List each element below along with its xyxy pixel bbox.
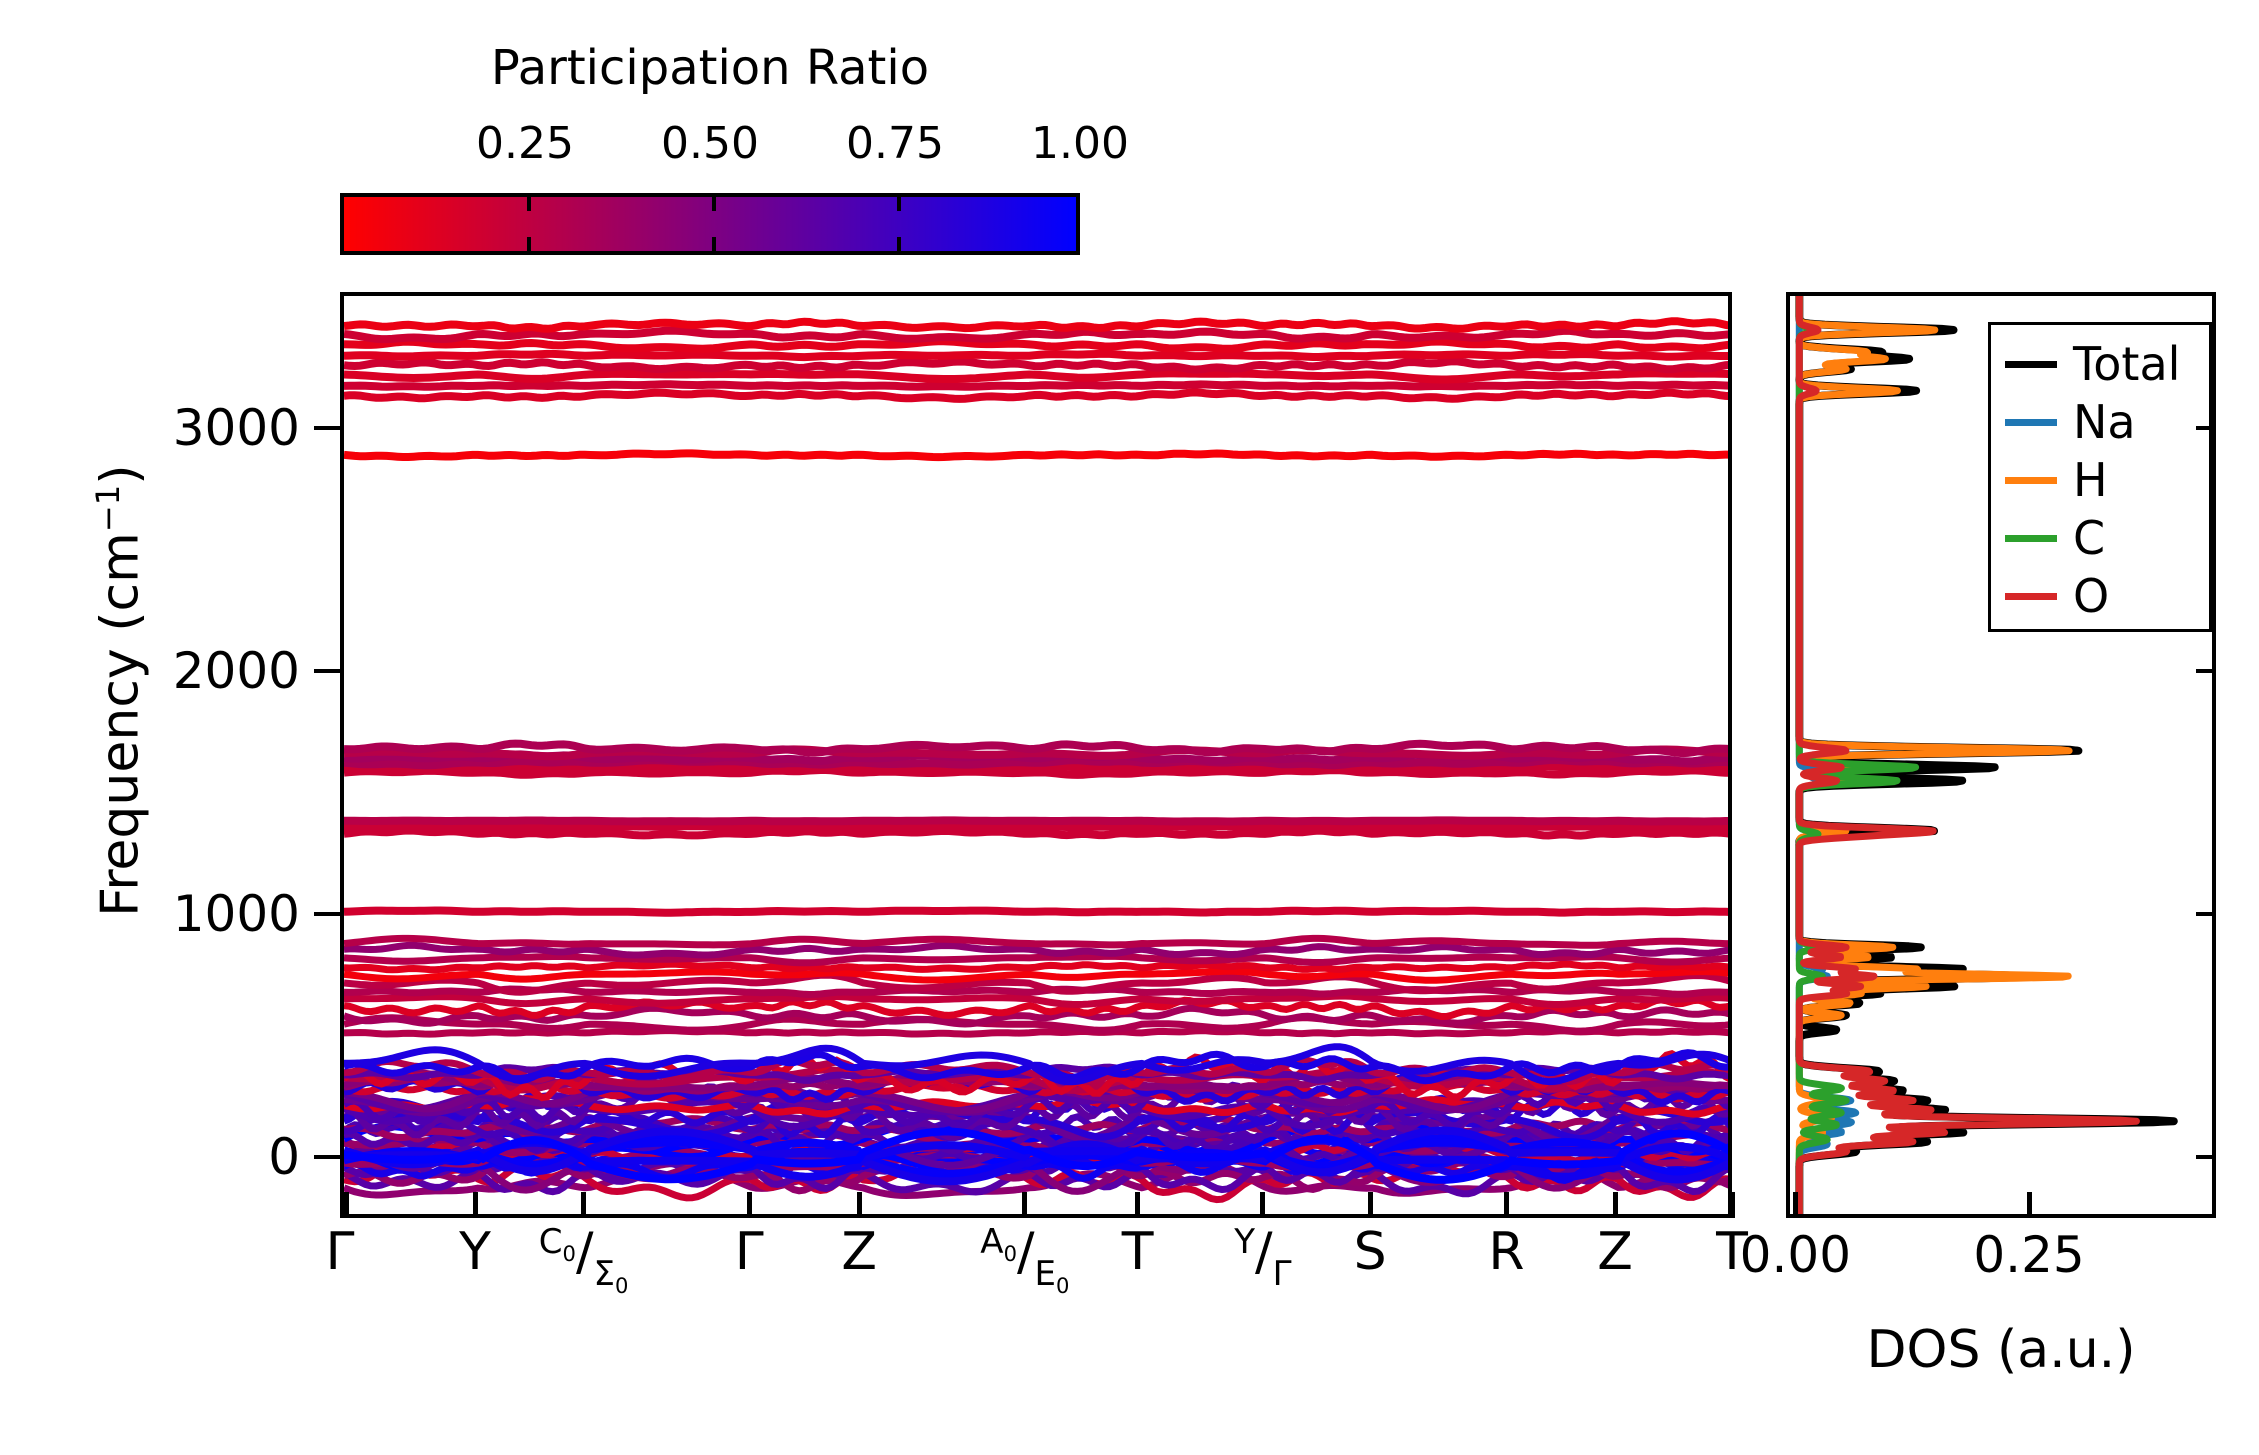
legend-label: Total bbox=[2073, 341, 2180, 387]
k-point-label-10: Z bbox=[1597, 1226, 1633, 1278]
legend-label: O bbox=[2073, 573, 2109, 619]
k-point-label-4: Z bbox=[841, 1226, 877, 1278]
colorbar-tick-label: 0.50 bbox=[661, 118, 759, 169]
colorbar-tick-mark bbox=[527, 197, 531, 211]
k-point-tick bbox=[1368, 1192, 1373, 1218]
k-point-tick bbox=[1022, 1192, 1027, 1218]
colorbar-tick-mark bbox=[527, 237, 531, 251]
band-curve bbox=[344, 938, 1732, 945]
band-curve bbox=[344, 373, 1732, 379]
legend-line-swatch bbox=[2005, 535, 2057, 542]
legend-label: Na bbox=[2073, 399, 2136, 445]
legend-line-swatch bbox=[2005, 361, 2057, 368]
k-point-tick bbox=[473, 1192, 478, 1218]
band-curve bbox=[344, 971, 1732, 980]
k-point-label-5: A0/E0 bbox=[980, 1226, 1069, 1280]
k-point-tick bbox=[344, 1192, 349, 1218]
band-curve bbox=[344, 384, 1732, 386]
band-curve bbox=[344, 831, 1732, 836]
colorbar-tick-label: 1.00 bbox=[1031, 118, 1129, 169]
dos-x-tick bbox=[1793, 1192, 1798, 1218]
colorbar bbox=[340, 193, 1080, 255]
k-point-label-9: R bbox=[1488, 1226, 1524, 1278]
k-point-tick bbox=[1613, 1192, 1618, 1218]
k-point-tick bbox=[1504, 1192, 1509, 1218]
colorbar-tick-mark bbox=[897, 197, 901, 211]
k-point-label-2: C0/Σ0 bbox=[539, 1226, 629, 1280]
band-curve bbox=[344, 956, 1732, 962]
dos-x-axis-label: DOS (a.u.) bbox=[1786, 1320, 2216, 1380]
band-curve bbox=[344, 354, 1732, 357]
colorbar-tick-label: 0.25 bbox=[476, 118, 574, 169]
k-point-tick bbox=[1260, 1192, 1265, 1218]
legend-item-o[interactable]: O bbox=[1991, 567, 2209, 625]
colorbar-tick-mark bbox=[712, 237, 716, 251]
band-curve bbox=[344, 744, 1732, 754]
dos-y-tick bbox=[2196, 669, 2216, 673]
legend-line-swatch bbox=[2005, 419, 2057, 426]
band-curve bbox=[344, 820, 1732, 821]
colorbar-tick-label: 0.75 bbox=[846, 118, 944, 169]
y-axis-tick-label: 3000 bbox=[20, 399, 300, 457]
k-point-tick bbox=[1135, 1192, 1140, 1218]
dos-x-tick bbox=[2027, 1192, 2032, 1218]
dos-y-tick bbox=[2196, 426, 2216, 430]
band-curve bbox=[344, 341, 1732, 349]
band-curve bbox=[344, 392, 1732, 399]
legend-line-swatch bbox=[2005, 593, 2057, 600]
legend-item-h[interactable]: H bbox=[1991, 451, 2209, 509]
phonon-band-structure-plot bbox=[340, 292, 1732, 1218]
dos-y-tick bbox=[2196, 912, 2216, 916]
band-curve bbox=[344, 996, 1732, 1004]
legend-label: C bbox=[2073, 515, 2105, 561]
k-point-tick bbox=[857, 1192, 862, 1218]
dos-x-tick-label: 0.25 bbox=[1973, 1226, 2084, 1284]
band-curve bbox=[344, 321, 1732, 329]
k-point-label-7: Y/Γ bbox=[1234, 1226, 1291, 1278]
k-point-label-3: Γ bbox=[735, 1226, 764, 1278]
legend-label: H bbox=[2073, 457, 2108, 503]
band-curve bbox=[344, 964, 1732, 970]
colorbar-tick-mark bbox=[897, 237, 901, 251]
k-point-label-1: Y bbox=[459, 1226, 491, 1278]
dos-legend: TotalNaHCO bbox=[1988, 322, 2212, 632]
y-axis-tick bbox=[314, 912, 340, 916]
band-curves bbox=[344, 296, 1732, 1218]
y-axis-tick bbox=[314, 1155, 340, 1159]
y-axis-tick bbox=[314, 669, 340, 673]
y-axis-tick bbox=[314, 426, 340, 430]
band-curve bbox=[344, 361, 1732, 369]
k-point-tick bbox=[747, 1192, 752, 1218]
k-point-tick bbox=[1730, 1192, 1735, 1218]
legend-item-na[interactable]: Na bbox=[1991, 393, 2209, 451]
colorbar-tick-labels: 0.250.500.751.00 bbox=[340, 118, 1080, 174]
band-curve bbox=[344, 826, 1732, 828]
legend-line-swatch bbox=[2005, 477, 2057, 484]
band-curve bbox=[344, 453, 1732, 457]
y-axis-tick-label: 2000 bbox=[20, 642, 300, 700]
dos-y-tick bbox=[2196, 1155, 2216, 1159]
y-axis-tick-label: 1000 bbox=[20, 885, 300, 943]
legend-item-total[interactable]: Total bbox=[1991, 335, 2209, 393]
legend-item-c[interactable]: C bbox=[1991, 509, 2209, 567]
k-point-label-0: Γ bbox=[326, 1226, 355, 1278]
k-point-label-6: T bbox=[1122, 1226, 1154, 1278]
colorbar-title: Participation Ratio bbox=[340, 40, 1080, 96]
colorbar-tick-mark bbox=[712, 197, 716, 211]
band-curve bbox=[344, 911, 1732, 913]
k-point-label-8: S bbox=[1354, 1226, 1387, 1278]
y-axis-tick-label: 0 bbox=[20, 1128, 300, 1186]
dos-x-tick-label: 0.00 bbox=[1740, 1226, 1851, 1284]
colorbar-gradient bbox=[344, 197, 1076, 251]
k-point-tick bbox=[581, 1192, 586, 1218]
